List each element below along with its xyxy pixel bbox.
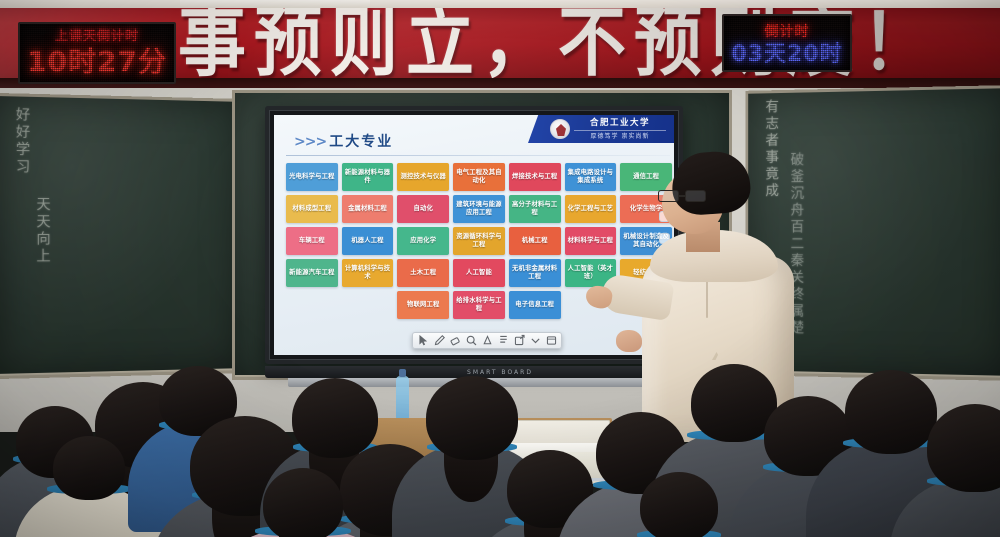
major-tile[interactable]: 应用化学 <box>397 227 449 255</box>
led-clock-display: 上课天倒计时 10时27分 <box>18 22 176 84</box>
major-tile[interactable]: 人工智能 <box>453 259 505 287</box>
major-tile[interactable]: 资源循环科学与工程 <box>453 227 505 255</box>
major-tile[interactable]: 物联网工程 <box>397 291 449 319</box>
chevron-down-icon[interactable] <box>529 334 542 347</box>
major-tile[interactable]: 新能源汽车工程 <box>286 259 338 287</box>
major-tile[interactable]: 电子信息工程 <box>509 291 561 319</box>
university-crest-icon <box>550 119 570 139</box>
university-name: 合肥工业大学 <box>574 118 666 129</box>
slide-title: >>>工大专业 <box>294 131 393 151</box>
chalk-text-left-1: 好好学习 <box>12 107 32 260</box>
major-tile[interactable]: 无机非金属材料工程 <box>509 259 561 287</box>
major-tile[interactable]: 材料科学与工程 <box>565 227 617 255</box>
major-tile[interactable]: 光电科学与工程 <box>286 163 338 191</box>
led-countdown-display: 倒计时 03天20时 <box>722 14 852 72</box>
presenter-hand-right <box>616 330 642 352</box>
chevron-right-icon: >>> <box>294 134 326 150</box>
student-silhouette <box>218 360 388 537</box>
window-icon[interactable] <box>545 334 558 347</box>
presenter-glasses-icon <box>658 190 710 202</box>
page-icon[interactable] <box>497 334 510 347</box>
major-tile[interactable]: 高分子材料与工程 <box>509 195 561 223</box>
student-head <box>53 436 125 500</box>
led-clock-time: 10时27分 <box>20 46 174 78</box>
classroom-scene: 事预则立，不预则废！ 上课天倒计时 10时27分 倒计时 03天20时 好好学习… <box>0 0 1000 537</box>
led-countdown-label: 倒计时 <box>724 16 850 42</box>
share-icon[interactable] <box>513 334 526 347</box>
major-tile-empty <box>342 291 394 319</box>
eraser-icon[interactable] <box>449 334 462 347</box>
major-tile[interactable]: 集成电路设计与集成系统 <box>565 163 617 191</box>
major-tile[interactable]: 材料成型工程 <box>286 195 338 223</box>
student-head <box>263 468 343 537</box>
glasses-bridge <box>679 195 685 197</box>
major-tile[interactable]: 测控技术与仪器 <box>397 163 449 191</box>
major-tile[interactable]: 车辆工程 <box>286 227 338 255</box>
major-tile[interactable]: 焊接技术与工程 <box>509 163 561 191</box>
spotlight-icon[interactable] <box>481 334 494 347</box>
university-motto: 厚德笃学 崇实尚新 <box>574 130 666 141</box>
major-tile[interactable]: 自动化 <box>397 195 449 223</box>
student-audience <box>0 360 1000 537</box>
student-silhouette <box>604 360 754 537</box>
presenter-hair <box>670 149 752 216</box>
student-silhouette <box>890 360 1000 537</box>
major-tile[interactable]: 机器人工程 <box>342 227 394 255</box>
major-tile[interactable]: 金属材料工程 <box>342 195 394 223</box>
blackboard-left: 好好学习 天天向上 <box>0 93 242 379</box>
led-clock-label: 上课天倒计时 <box>20 24 174 46</box>
slide-title-text: 工大专业 <box>329 134 393 150</box>
glasses-lens-left <box>658 190 679 202</box>
chalk-text-left-2: 天天向上 <box>32 196 51 348</box>
major-tile[interactable]: 机械工程 <box>509 227 561 255</box>
major-tile-empty <box>286 291 338 319</box>
student-head <box>927 404 1000 492</box>
pen-icon[interactable] <box>433 334 446 347</box>
magnifier-icon[interactable] <box>465 334 478 347</box>
glasses-lens-right <box>685 190 706 202</box>
major-tile[interactable]: 电气工程及其自动化 <box>453 163 505 191</box>
cursor-icon[interactable] <box>417 334 430 347</box>
student-head <box>640 472 718 537</box>
annotation-toolbar[interactable] <box>412 332 562 349</box>
major-tile[interactable]: 土木工程 <box>397 259 449 287</box>
led-countdown-value: 03天20时 <box>724 42 850 68</box>
major-tile[interactable]: 给排水科学与工程 <box>453 291 505 319</box>
major-tile[interactable]: 建筑环境与能源应用工程 <box>453 195 505 223</box>
major-tile[interactable]: 化学工程与工艺 <box>565 195 617 223</box>
major-tile[interactable]: 新能源材料与器件 <box>342 163 394 191</box>
major-tile[interactable]: 计算机科学与技术 <box>342 259 394 287</box>
